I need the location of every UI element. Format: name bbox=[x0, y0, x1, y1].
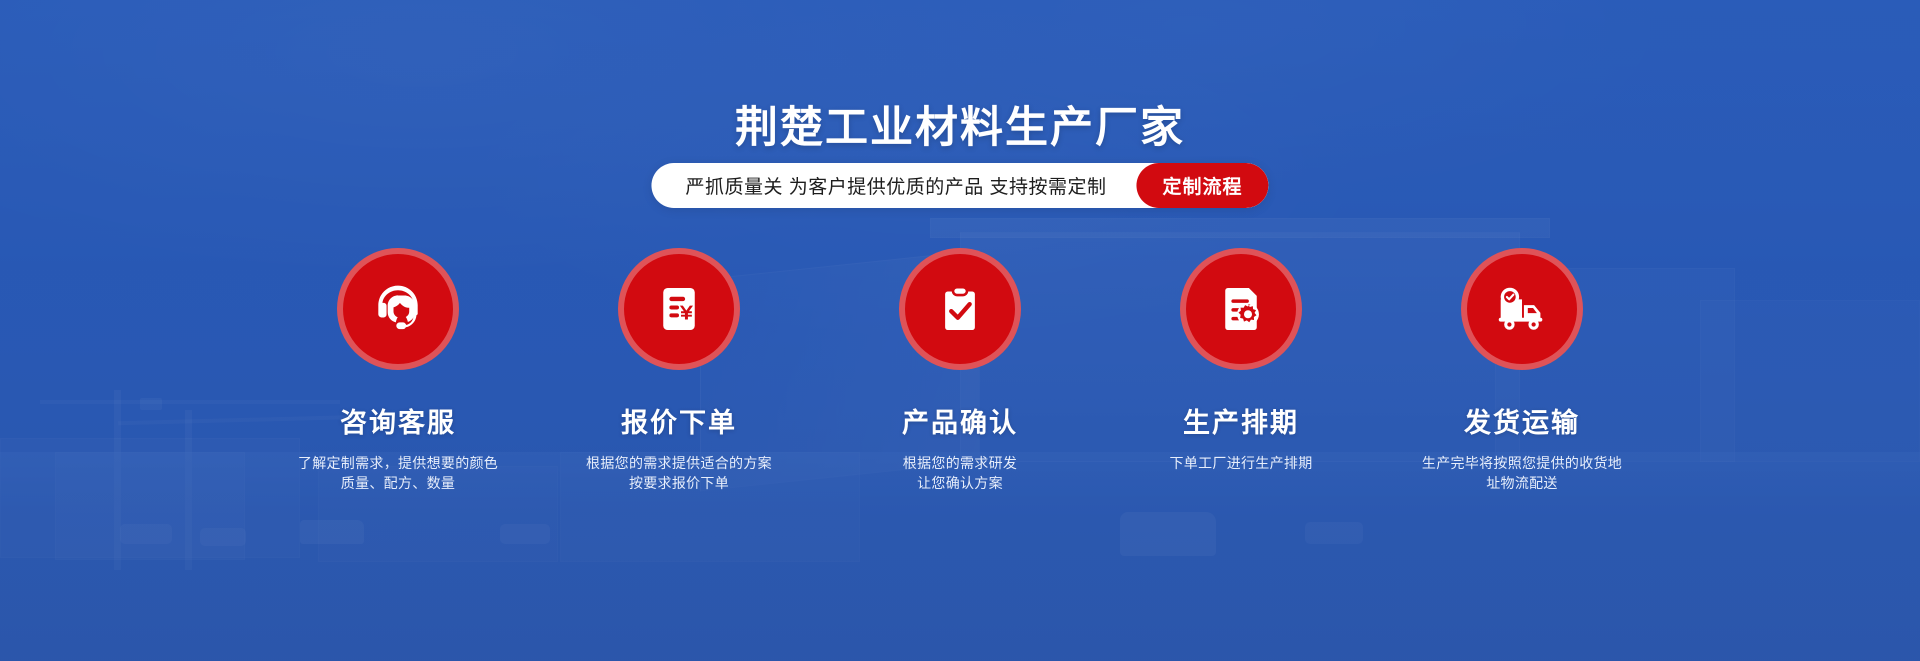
step-2-icon-circle[interactable] bbox=[618, 248, 740, 370]
headset-support-icon bbox=[368, 279, 428, 339]
step-3-icon-circle[interactable] bbox=[899, 248, 1021, 370]
process-step-1[interactable]: 咨询客服 了解定制需求，提供想要的颜色 质量、配方、数量 bbox=[258, 248, 538, 494]
process-steps: 咨询客服 了解定制需求，提供想要的颜色 质量、配方、数量 bbox=[258, 248, 1662, 494]
step-4-desc: 下单工厂进行生产排期 bbox=[1170, 453, 1313, 473]
process-step-5[interactable]: 发货运输 生产完毕将按照您提供的收货地 址物流配送 bbox=[1382, 248, 1662, 494]
page-title: 荆楚工业材料生产厂家 bbox=[0, 93, 1920, 155]
step-2-desc: 根据您的需求提供适合的方案 按要求报价下单 bbox=[586, 453, 772, 494]
step-5-title: 发货运输 bbox=[1464, 401, 1580, 440]
step-1-icon-circle[interactable] bbox=[337, 248, 459, 370]
step-3-title: 产品确认 bbox=[902, 401, 1018, 440]
document-gear-icon bbox=[1213, 281, 1269, 337]
step-5-desc: 生产完毕将按照您提供的收货地 址物流配送 bbox=[1422, 453, 1622, 494]
delivery-truck-icon bbox=[1491, 278, 1553, 340]
process-step-3[interactable]: 产品确认 根据您的需求研发 让您确认方案 bbox=[820, 248, 1100, 494]
quotation-invoice-icon bbox=[651, 281, 707, 337]
clipboard-check-icon bbox=[932, 281, 988, 337]
step-4-icon-circle[interactable] bbox=[1180, 248, 1302, 370]
banner-content: 荆楚工业材料生产厂家 严抓质量关 为客户提供优质的产品 支持按需定制 定制流程 … bbox=[0, 0, 1920, 661]
step-1-title: 咨询客服 bbox=[340, 401, 456, 440]
custom-process-button[interactable]: 定制流程 bbox=[1137, 163, 1269, 208]
subtitle-text: 严抓质量关 为客户提供优质的产品 支持按需定制 bbox=[651, 163, 1136, 208]
step-5-icon-circle[interactable] bbox=[1461, 248, 1583, 370]
step-2-title: 报价下单 bbox=[621, 401, 737, 440]
step-1-desc: 了解定制需求，提供想要的颜色 质量、配方、数量 bbox=[298, 453, 498, 494]
process-step-2[interactable]: 报价下单 根据您的需求提供适合的方案 按要求报价下单 bbox=[539, 248, 819, 494]
process-step-4[interactable]: 生产排期 下单工厂进行生产排期 bbox=[1101, 248, 1381, 494]
step-3-desc: 根据您的需求研发 让您确认方案 bbox=[903, 453, 1017, 494]
subtitle-bar: 严抓质量关 为客户提供优质的产品 支持按需定制 定制流程 bbox=[651, 163, 1268, 208]
step-4-title: 生产排期 bbox=[1183, 401, 1299, 440]
